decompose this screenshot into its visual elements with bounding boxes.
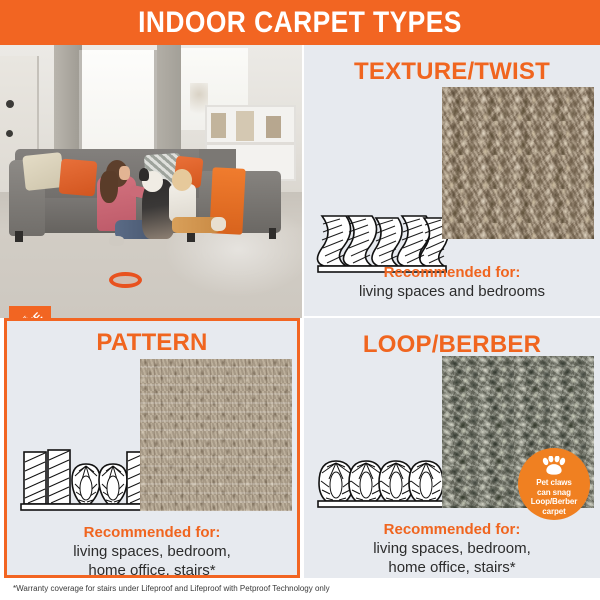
- photo-woman-foot: [109, 236, 124, 246]
- living-room-photo: [0, 45, 302, 318]
- recommended-values: living spaces, bedroom, home office, sta…: [304, 539, 600, 577]
- recommended-label: Recommended for:: [7, 523, 297, 542]
- photo-child-sock: [211, 217, 226, 231]
- photo-shelf-item: [236, 111, 254, 141]
- pattern-carpet-swatch: [140, 359, 292, 511]
- lifestyle-photo-panel: THE HOME DEPOT: [0, 45, 302, 318]
- photo-dog-ear: [139, 168, 150, 182]
- recommended-values: living spaces and bedrooms: [304, 282, 600, 301]
- texture-twist-carpet-swatch: [442, 87, 594, 239]
- pet-badge-line: Pet claws: [531, 478, 577, 488]
- loop-berber-pile-diagram: [316, 443, 448, 513]
- recommendation-pattern: Recommended for: living spaces, bedroom,…: [7, 523, 297, 578]
- recommended-line: home office, stairs*: [304, 558, 600, 577]
- photo-woman-hair: [100, 171, 118, 204]
- infographic-root: INDOOR CARPET TYPES: [0, 0, 600, 600]
- photo-window: [79, 50, 158, 159]
- header-banner: INDOOR CARPET TYPES: [0, 0, 600, 45]
- photo-pet-toy-ring: [109, 272, 142, 288]
- pet-badge-line: Loop/Berber: [531, 497, 577, 507]
- recommended-line: home office, stairs*: [7, 561, 297, 578]
- panel-pattern: PATTERN: [4, 318, 300, 578]
- panel-loop-berber: LOOP/BERBER: [304, 318, 600, 578]
- recommended-line: living spaces, bedroom,: [7, 542, 297, 561]
- photo-sofa-leg: [269, 228, 277, 239]
- paw-print-icon: [541, 456, 567, 476]
- photo-sofa-leg: [15, 231, 23, 242]
- photo-shelf-item: [211, 113, 226, 138]
- panel-title-texture-twist: TEXTURE/TWIST: [304, 58, 600, 86]
- photo-child-head: [172, 169, 192, 191]
- pet-badge-line: carpet: [531, 507, 577, 517]
- warranty-footnote: *Warranty coverage for stairs under Life…: [13, 584, 330, 593]
- recommendation-texture-twist: Recommended for: living spaces and bedro…: [304, 263, 600, 301]
- recommended-line: living spaces, bedroom,: [304, 539, 600, 558]
- photo-woman-face: [119, 166, 130, 180]
- recommendation-loop-berber: Recommended for: living spaces, bedroom,…: [304, 520, 600, 577]
- photo-shelf-item: [266, 116, 281, 138]
- recommended-values: living spaces, bedroom, home office, sta…: [7, 542, 297, 578]
- photo-pillow-orange: [59, 158, 98, 197]
- pet-claw-warning-badge: Pet claws can snag Loop/Berber carpet: [518, 448, 590, 520]
- panel-texture-twist: TEXTURE/TWIST: [304, 45, 600, 316]
- photo-door-lock: [6, 130, 13, 137]
- panel-title-pattern: PATTERN: [7, 329, 297, 357]
- recommended-label: Recommended for:: [304, 520, 600, 539]
- page-title: INDOOR CARPET TYPES: [138, 8, 462, 38]
- recommended-line: living spaces and bedrooms: [304, 282, 600, 301]
- photo-curtain-right: [157, 45, 181, 160]
- photo-door-knob: [6, 100, 14, 108]
- pattern-pile-diagram: [19, 446, 151, 516]
- pet-badge-text: Pet claws can snag Loop/Berber carpet: [531, 478, 577, 516]
- pet-badge-line: can snag: [531, 488, 577, 498]
- the-home-depot-logo: THE HOME DEPOT: [9, 306, 51, 318]
- panel-title-loop-berber: LOOP/BERBER: [304, 331, 600, 359]
- recommended-label: Recommended for:: [304, 263, 600, 282]
